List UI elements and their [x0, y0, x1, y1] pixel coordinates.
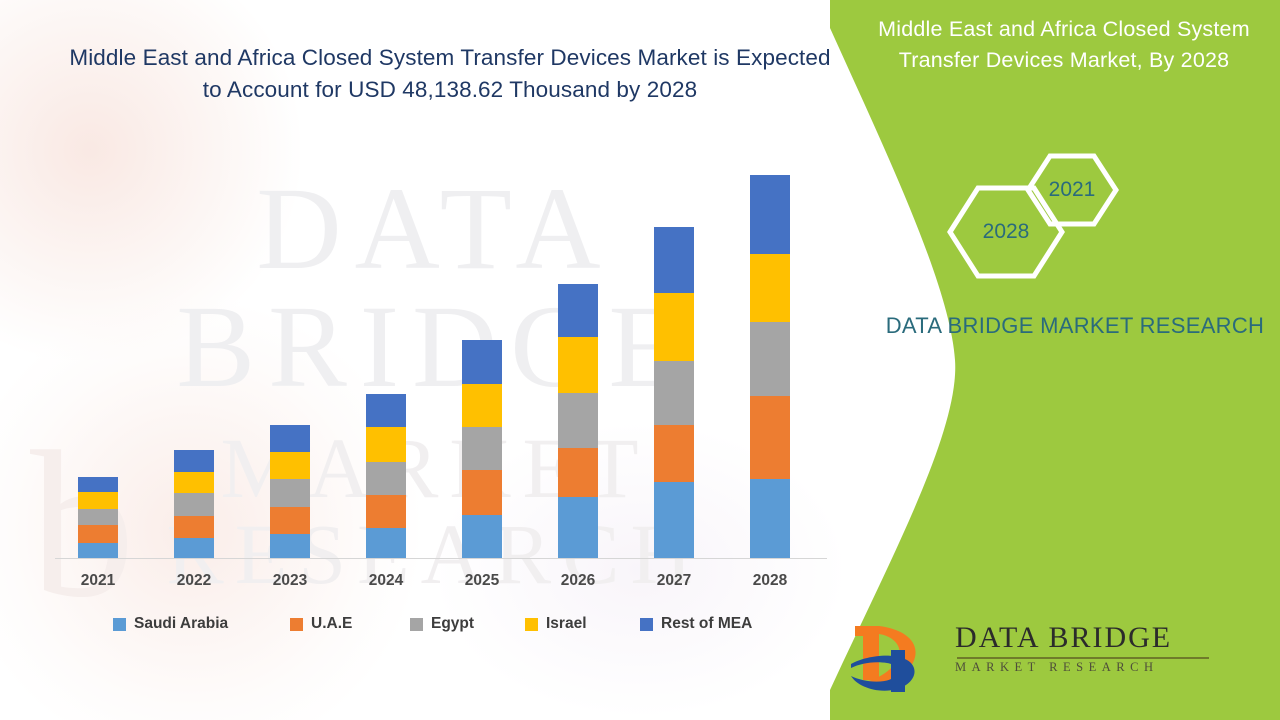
legend-label: Rest of MEA — [661, 615, 752, 633]
bar-2021[interactable] — [78, 477, 118, 559]
bar-2024[interactable] — [366, 394, 406, 559]
bar-segment-rest-of-mea-2026[interactable] — [558, 284, 598, 337]
x-axis-label-2023: 2023 — [255, 572, 325, 590]
bar-segment-u-a-e-2028[interactable] — [750, 396, 790, 478]
x-axis-label-2028: 2028 — [735, 572, 805, 590]
company-logo: DATA BRIDGE MARKET RESEARCH — [845, 616, 1265, 700]
x-axis-label-2026: 2026 — [543, 572, 613, 590]
bar-segment-rest-of-mea-2028[interactable] — [750, 175, 790, 254]
bar-segment-rest-of-mea-2025[interactable] — [462, 340, 502, 384]
legend-swatch-icon — [290, 618, 303, 631]
bar-segment-israel-2027[interactable] — [654, 293, 694, 361]
x-axis-label-2027: 2027 — [639, 572, 709, 590]
bar-segment-saudi-arabia-2026[interactable] — [558, 497, 598, 559]
legend-label: Egypt — [431, 615, 474, 633]
bar-segment-israel-2021[interactable] — [78, 492, 118, 508]
legend-swatch-icon — [640, 618, 653, 631]
bar-2027[interactable] — [654, 227, 694, 559]
chart-legend: Saudi ArabiaU.A.EEgyptIsraelRest of MEA — [55, 615, 827, 641]
legend-swatch-icon — [525, 618, 538, 631]
chart: 20212022202320242025202620272028 Saudi A… — [0, 0, 870, 720]
x-axis-label-2021: 2021 — [63, 572, 133, 590]
hexagon-label-2028: 2028 — [950, 220, 1062, 244]
legend-item-rest-of-mea[interactable]: Rest of MEA — [640, 615, 752, 633]
bar-2023[interactable] — [270, 425, 310, 559]
bar-segment-saudi-arabia-2024[interactable] — [366, 528, 406, 559]
bar-segment-egypt-2027[interactable] — [654, 361, 694, 425]
bar-segment-israel-2022[interactable] — [174, 472, 214, 494]
logo-mark-icon — [845, 620, 955, 696]
chart-plot-area — [55, 175, 825, 559]
bar-segment-egypt-2022[interactable] — [174, 493, 214, 516]
legend-item-saudi-arabia[interactable]: Saudi Arabia — [113, 615, 228, 633]
bar-segment-saudi-arabia-2027[interactable] — [654, 482, 694, 559]
legend-swatch-icon — [410, 618, 423, 631]
bar-segment-u-a-e-2027[interactable] — [654, 425, 694, 482]
bar-2028[interactable] — [750, 175, 790, 559]
x-axis-label-2025: 2025 — [447, 572, 517, 590]
bar-segment-saudi-arabia-2022[interactable] — [174, 538, 214, 559]
bar-segment-rest-of-mea-2027[interactable] — [654, 227, 694, 294]
right-panel: Middle East and Africa Closed System Tra… — [830, 0, 1280, 720]
bar-segment-saudi-arabia-2025[interactable] — [462, 515, 502, 559]
legend-swatch-icon — [113, 618, 126, 631]
bar-segment-u-a-e-2022[interactable] — [174, 516, 214, 539]
logo-name: DATA BRIDGE — [955, 622, 1255, 654]
legend-label: Saudi Arabia — [134, 615, 228, 633]
bar-segment-rest-of-mea-2022[interactable] — [174, 450, 214, 472]
legend-label: Israel — [546, 615, 587, 633]
bar-segment-egypt-2025[interactable] — [462, 427, 502, 470]
legend-item-u-a-e[interactable]: U.A.E — [290, 615, 352, 633]
bar-segment-u-a-e-2026[interactable] — [558, 448, 598, 497]
bar-segment-saudi-arabia-2021[interactable] — [78, 543, 118, 559]
legend-label: U.A.E — [311, 615, 352, 633]
bar-2026[interactable] — [558, 284, 598, 559]
bar-segment-saudi-arabia-2028[interactable] — [750, 479, 790, 559]
bar-segment-u-a-e-2024[interactable] — [366, 495, 406, 528]
slide-canvas: b DATA BRIDGE MARKET RESEARCH Middle Eas… — [0, 0, 1280, 720]
bar-segment-rest-of-mea-2021[interactable] — [78, 477, 118, 492]
hexagon-group: 2028 2021 — [930, 140, 1270, 300]
bar-segment-saudi-arabia-2023[interactable] — [270, 534, 310, 559]
bar-segment-u-a-e-2023[interactable] — [270, 507, 310, 535]
bar-segment-egypt-2023[interactable] — [270, 479, 310, 507]
bar-segment-israel-2024[interactable] — [366, 427, 406, 462]
logo-divider — [957, 657, 1209, 659]
bar-segment-egypt-2021[interactable] — [78, 509, 118, 525]
bar-segment-u-a-e-2025[interactable] — [462, 470, 502, 514]
panel-title: Middle East and Africa Closed System Tra… — [862, 14, 1266, 76]
bar-segment-egypt-2024[interactable] — [366, 462, 406, 495]
chart-x-axis-labels: 20212022202320242025202620272028 — [55, 572, 827, 598]
legend-item-israel[interactable]: Israel — [525, 615, 587, 633]
bar-2025[interactable] — [462, 340, 502, 559]
logo-subtitle: MARKET RESEARCH — [955, 661, 1255, 675]
legend-item-egypt[interactable]: Egypt — [410, 615, 474, 633]
bar-segment-israel-2025[interactable] — [462, 384, 502, 427]
bar-segment-u-a-e-2021[interactable] — [78, 525, 118, 543]
bar-segment-rest-of-mea-2023[interactable] — [270, 425, 310, 452]
bar-segment-israel-2026[interactable] — [558, 337, 598, 394]
bar-2022[interactable] — [174, 450, 214, 559]
chart-x-axis-line — [55, 558, 827, 559]
x-axis-label-2022: 2022 — [159, 572, 229, 590]
hexagon-label-2021: 2021 — [1028, 178, 1116, 202]
bar-segment-egypt-2028[interactable] — [750, 322, 790, 396]
bar-segment-israel-2023[interactable] — [270, 452, 310, 479]
bar-segment-israel-2028[interactable] — [750, 254, 790, 322]
bar-segment-egypt-2026[interactable] — [558, 393, 598, 448]
panel-brand-text: DATA BRIDGE MARKET RESEARCH — [885, 310, 1265, 342]
x-axis-label-2024: 2024 — [351, 572, 421, 590]
bar-segment-rest-of-mea-2024[interactable] — [366, 394, 406, 427]
